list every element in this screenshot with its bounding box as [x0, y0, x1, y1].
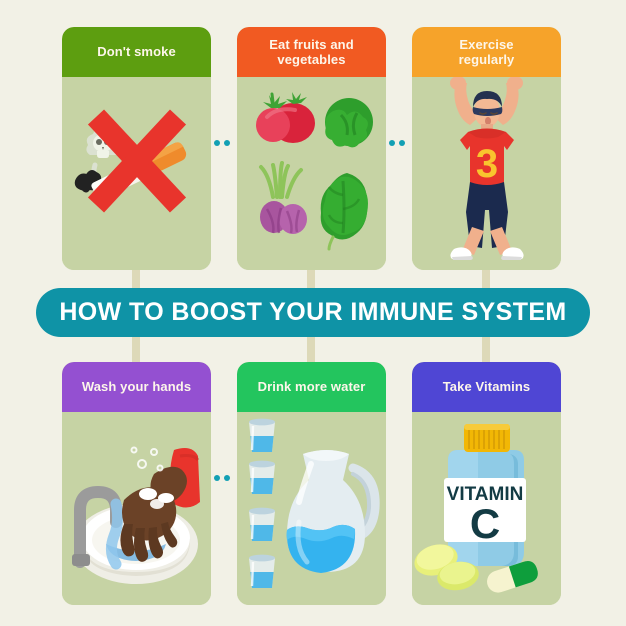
handwashing-sink-icon	[62, 412, 211, 605]
connector-dots-top-right	[389, 140, 405, 146]
card-label-line2: regularly	[459, 52, 515, 67]
card-body-wash-hands	[62, 412, 211, 605]
card-body-eat-fruits	[237, 77, 386, 270]
card-header-dont-smoke: Don't smoke	[62, 27, 211, 77]
tomato-icon	[256, 92, 315, 143]
card-wash-your-hands[interactable]: Wash your hands	[62, 362, 211, 605]
cabbage-icon	[325, 98, 373, 147]
main-title-banner: HOW TO BOOST YOUR IMMUNE SYSTEM	[36, 288, 590, 337]
card-label-line1: Eat fruits and	[269, 37, 353, 52]
card-header-take-vitamins: Take Vitamins	[412, 362, 561, 412]
card-label-line2: vegetables	[277, 52, 345, 67]
card-header-eat-fruits: Eat fruits and vegetables	[237, 27, 386, 77]
card-take-vitamins[interactable]: Take Vitamins	[412, 362, 561, 605]
connector-dots-top-left	[214, 140, 230, 146]
card-header-drink-water: Drink more water	[237, 362, 386, 412]
cigarette-crossed-out-icon	[62, 77, 211, 270]
main-title-text: HOW TO BOOST YOUR IMMUNE SYSTEM	[59, 298, 566, 327]
onions-icon	[260, 163, 307, 234]
card-drink-more-water[interactable]: Drink more water	[237, 362, 386, 605]
dot	[224, 140, 230, 146]
card-exercise-regularly[interactable]: Exercise regularly	[412, 27, 561, 270]
dot	[224, 475, 230, 481]
dot	[214, 140, 220, 146]
card-body-take-vitamins: VITAMIN C	[412, 412, 561, 605]
card-body-drink-water	[237, 412, 386, 605]
vitamin-bottle-icon: VITAMIN C	[412, 412, 561, 605]
dot	[214, 475, 220, 481]
card-body-exercise: 3	[412, 77, 561, 270]
card-label-eat-fruits: Eat fruits and vegetables	[269, 37, 353, 68]
leafy-green-icon	[321, 173, 368, 249]
card-header-wash-hands: Wash your hands	[62, 362, 211, 412]
card-label-drink-water: Drink more water	[258, 379, 366, 394]
connector-dots-bottom-left	[214, 475, 230, 481]
shirt-number: 3	[476, 142, 498, 186]
card-dont-smoke[interactable]: Don't smoke	[62, 27, 211, 270]
card-body-dont-smoke	[62, 77, 211, 270]
card-eat-fruits-and-vegetables[interactable]: Eat fruits and vegetables	[237, 27, 386, 270]
card-label-line1: Exercise	[459, 37, 513, 52]
water-pitcher-and-glasses-icon	[237, 412, 386, 605]
vegetables-icon	[237, 77, 386, 270]
card-label-exercise: Exercise regularly	[459, 37, 515, 68]
exercising-person-icon: 3	[412, 77, 561, 270]
card-header-exercise: Exercise regularly	[412, 27, 561, 77]
pitcher-icon	[287, 450, 376, 573]
dot	[399, 140, 405, 146]
dot	[389, 140, 395, 146]
infographic-canvas: Don't smoke	[0, 0, 626, 626]
card-label-take-vitamins: Take Vitamins	[443, 379, 531, 394]
card-label-dont-smoke: Don't smoke	[97, 44, 176, 59]
water-glasses-group	[249, 419, 275, 588]
bottle-label-c: C	[470, 500, 500, 547]
card-label-wash-hands: Wash your hands	[82, 379, 191, 394]
